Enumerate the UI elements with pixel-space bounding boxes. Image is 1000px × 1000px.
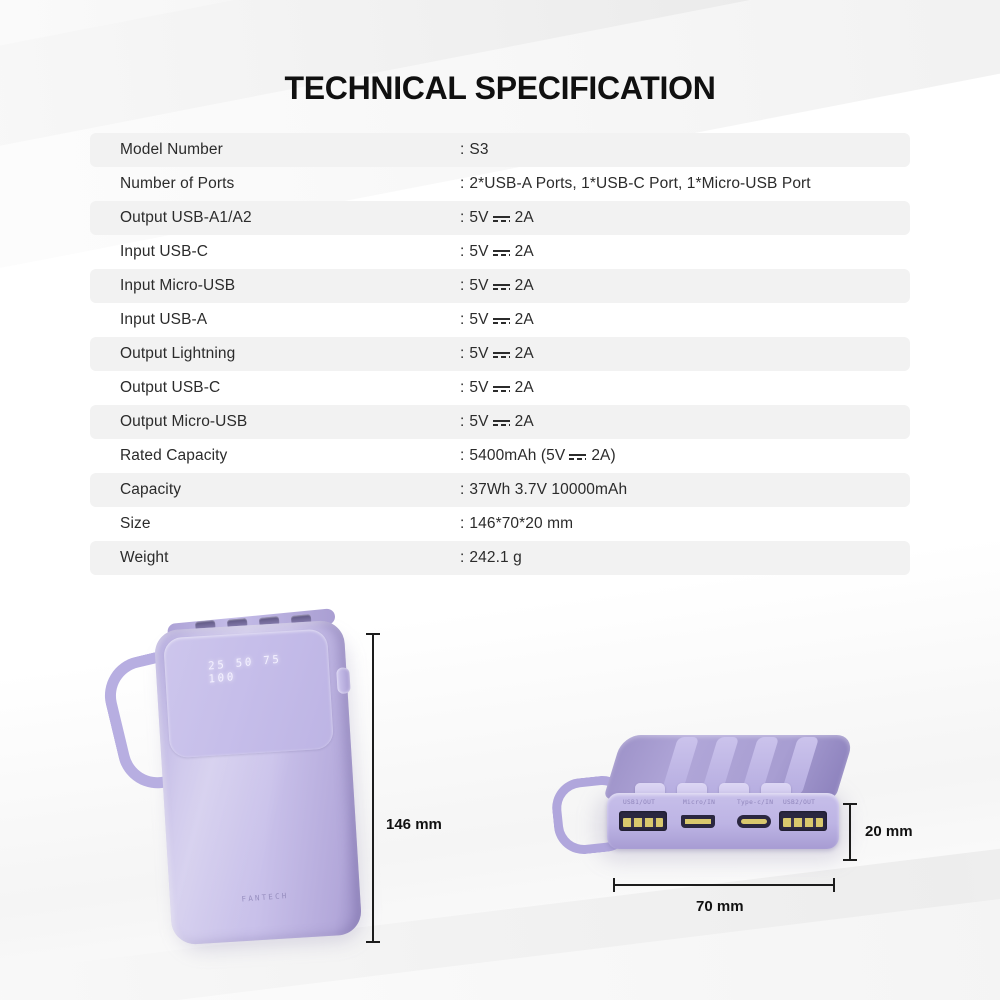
spec-value-text: 242.1 g	[469, 549, 521, 567]
spec-key: Input USB-C	[120, 243, 208, 261]
dc-current-symbol	[493, 247, 510, 258]
spec-value: :2*USB-A Ports, 1*USB-C Port, 1*Micro-US…	[460, 175, 811, 193]
spec-value-text: S3	[469, 141, 488, 159]
spec-value-post: 2A	[515, 413, 534, 431]
dc-current-symbol	[493, 383, 510, 394]
spec-value: :5V2A	[460, 209, 534, 227]
spec-separator: :	[460, 379, 464, 397]
spec-value: :5400mAh (5V2A)	[460, 447, 616, 465]
spec-key: Input USB-A	[120, 311, 207, 329]
spec-value-pre: 5V	[469, 413, 488, 431]
spec-key: Input Micro-USB	[120, 277, 235, 295]
spec-row: Input Micro-USB:5V2A	[90, 269, 910, 303]
spec-value-pre: 5V	[469, 209, 488, 227]
spec-value-post: 2A)	[591, 447, 615, 465]
spec-row: Weight:242.1 g	[90, 541, 910, 575]
spec-value: :37Wh 3.7V 10000mAh	[460, 481, 627, 499]
spec-value-pre: 5V	[469, 379, 488, 397]
spec-row: Output Micro-USB:5V2A	[90, 405, 910, 439]
spec-value: :5V2A	[460, 277, 534, 295]
spec-row: Output USB-A1/A2:5V2A	[90, 201, 910, 235]
spec-value: :5V2A	[460, 311, 534, 329]
spec-separator: :	[460, 413, 464, 431]
spec-value: :5V2A	[460, 379, 534, 397]
spec-row: Number of Ports:2*USB-A Ports, 1*USB-C P…	[90, 167, 910, 201]
spec-value-post: 2A	[515, 379, 534, 397]
spec-key: Output Lightning	[120, 345, 235, 363]
spec-table: Model Number:S3Number of Ports:2*USB-A P…	[90, 133, 910, 575]
dc-current-symbol	[493, 281, 510, 292]
spec-separator: :	[460, 311, 464, 329]
spec-row: Input USB-A:5V2A	[90, 303, 910, 337]
spec-separator: :	[460, 515, 464, 533]
spec-value-pre: 5V	[469, 243, 488, 261]
spec-separator: :	[460, 447, 464, 465]
spec-key: Size	[120, 515, 151, 533]
spec-value: :146*70*20 mm	[460, 515, 573, 533]
spec-separator: :	[460, 141, 464, 159]
spec-row: Input USB-C:5V2A	[90, 235, 910, 269]
spec-value-text: 2*USB-A Ports, 1*USB-C Port, 1*Micro-USB…	[469, 175, 810, 193]
dc-current-symbol	[493, 417, 510, 428]
spec-key: Number of Ports	[120, 175, 234, 193]
spec-separator: :	[460, 175, 464, 193]
dc-current-symbol	[493, 213, 510, 224]
spec-row: Rated Capacity:5400mAh (5V2A)	[90, 439, 910, 473]
spec-separator: :	[460, 209, 464, 227]
spec-value-post: 2A	[515, 311, 534, 329]
spec-value: :5V2A	[460, 345, 534, 363]
spec-separator: :	[460, 549, 464, 567]
spec-row: Size:146*70*20 mm	[90, 507, 910, 541]
spec-value: :242.1 g	[460, 549, 522, 567]
spec-row: Capacity:37Wh 3.7V 10000mAh	[90, 473, 910, 507]
spec-row: Model Number:S3	[90, 133, 910, 167]
spec-key: Output USB-A1/A2	[120, 209, 252, 227]
spec-value: :5V2A	[460, 243, 534, 261]
spec-row: Output Lightning:5V2A	[90, 337, 910, 371]
spec-value-text: 146*70*20 mm	[469, 515, 573, 533]
spec-value: :S3	[460, 141, 489, 159]
spec-key: Weight	[120, 549, 169, 567]
spec-value-post: 2A	[515, 209, 534, 227]
spec-value-pre: 5V	[469, 277, 488, 295]
spec-value-post: 2A	[515, 345, 534, 363]
spec-key: Capacity	[120, 481, 181, 499]
spec-key: Output USB-C	[120, 379, 220, 397]
spec-value-post: 2A	[515, 277, 534, 295]
spec-separator: :	[460, 481, 464, 499]
spec-key: Output Micro-USB	[120, 413, 247, 431]
spec-value: :5V2A	[460, 413, 534, 431]
dc-current-symbol	[569, 451, 586, 462]
dc-current-symbol	[493, 315, 510, 326]
spec-row: Output USB-C:5V2A	[90, 371, 910, 405]
spec-key: Rated Capacity	[120, 447, 227, 465]
spec-separator: :	[460, 345, 464, 363]
spec-value-text: 37Wh 3.7V 10000mAh	[469, 481, 627, 499]
spec-value-pre: 5V	[469, 311, 488, 329]
spec-separator: :	[460, 277, 464, 295]
spec-key: Model Number	[120, 141, 223, 159]
spec-value-pre: 5V	[469, 345, 488, 363]
spec-value-post: 2A	[515, 243, 534, 261]
spec-value-pre: 5400mAh (5V	[469, 447, 565, 465]
spec-separator: :	[460, 243, 464, 261]
page-title: TECHNICAL SPECIFICATION	[0, 70, 1000, 107]
dc-current-symbol	[493, 349, 510, 360]
